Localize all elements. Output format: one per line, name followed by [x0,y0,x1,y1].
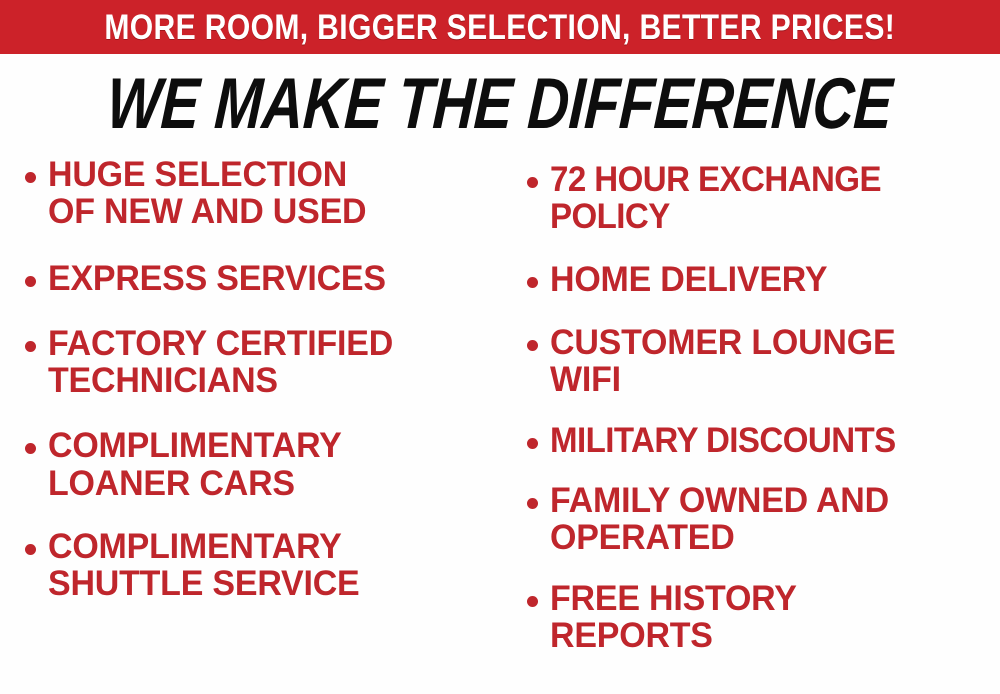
list-item-label: FACTORY CERTIFIED TECHNICIANS [48,325,492,399]
bullet-dot-icon [527,177,538,188]
list-item: HOME DELIVERY [516,261,1000,298]
bullet-dot-icon [527,277,538,288]
list-item: COMPLIMENTARY LOANER CARS [14,427,506,501]
list-item: 72 HOUR EXCHANGE POLICY [516,161,1000,235]
list-item-label: COMPLIMENTARY LOANER CARS [48,427,492,501]
banner-headline-text: MORE ROOM, BIGGER SELECTION, BETTER PRIC… [105,10,896,45]
bullet-dot-icon [25,443,36,454]
list-item-label: 72 HOUR EXCHANGE POLICY [550,161,975,235]
list-item-label: MILITARY DISCOUNTS [550,422,975,459]
benefits-columns: HUGE SELECTION OF NEW AND USED EXPRESS S… [0,150,1000,694]
list-item: FREE HISTORY REPORTS [516,580,1000,654]
list-item: HUGE SELECTION OF NEW AND USED [14,156,506,230]
bullet-dot-icon [527,438,538,449]
list-item: EXPRESS SERVICES [14,260,506,297]
bullet-dot-icon [25,276,36,287]
list-item-label: CUSTOMER LOUNGE WIFI [550,324,987,398]
bullet-dot-icon [527,340,538,351]
main-headline-area: WE MAKE THE DIFFERENCE [0,66,1000,142]
list-item-label: HUGE SELECTION OF NEW AND USED [48,156,492,230]
list-item: COMPLIMENTARY SHUTTLE SERVICE [14,528,506,602]
list-item: FACTORY CERTIFIED TECHNICIANS [14,325,506,399]
bullet-dot-icon [25,341,36,352]
bullet-dot-icon [527,596,538,607]
list-item-label: FREE HISTORY REPORTS [550,580,987,654]
list-item-label: COMPLIMENTARY SHUTTLE SERVICE [48,528,492,602]
list-item-label: FAMILY OWNED AND OPERATED [550,482,987,556]
benefits-column-right: 72 HOUR EXCHANGE POLICY HOME DELIVERY CU… [516,150,1000,694]
bullet-dot-icon [25,544,36,555]
list-item: MILITARY DISCOUNTS [516,422,1000,459]
list-item: FAMILY OWNED AND OPERATED [516,482,1000,556]
page-title: WE MAKE THE DIFFERENCE [106,68,895,140]
list-item-label: HOME DELIVERY [550,261,987,298]
top-banner: MORE ROOM, BIGGER SELECTION, BETTER PRIC… [0,0,1000,54]
advertisement-poster: MORE ROOM, BIGGER SELECTION, BETTER PRIC… [0,0,1000,694]
list-item: CUSTOMER LOUNGE WIFI [516,324,1000,398]
list-item-label: EXPRESS SERVICES [48,260,492,297]
benefits-column-left: HUGE SELECTION OF NEW AND USED EXPRESS S… [14,150,506,694]
bullet-dot-icon [25,172,36,183]
bullet-dot-icon [527,498,538,509]
